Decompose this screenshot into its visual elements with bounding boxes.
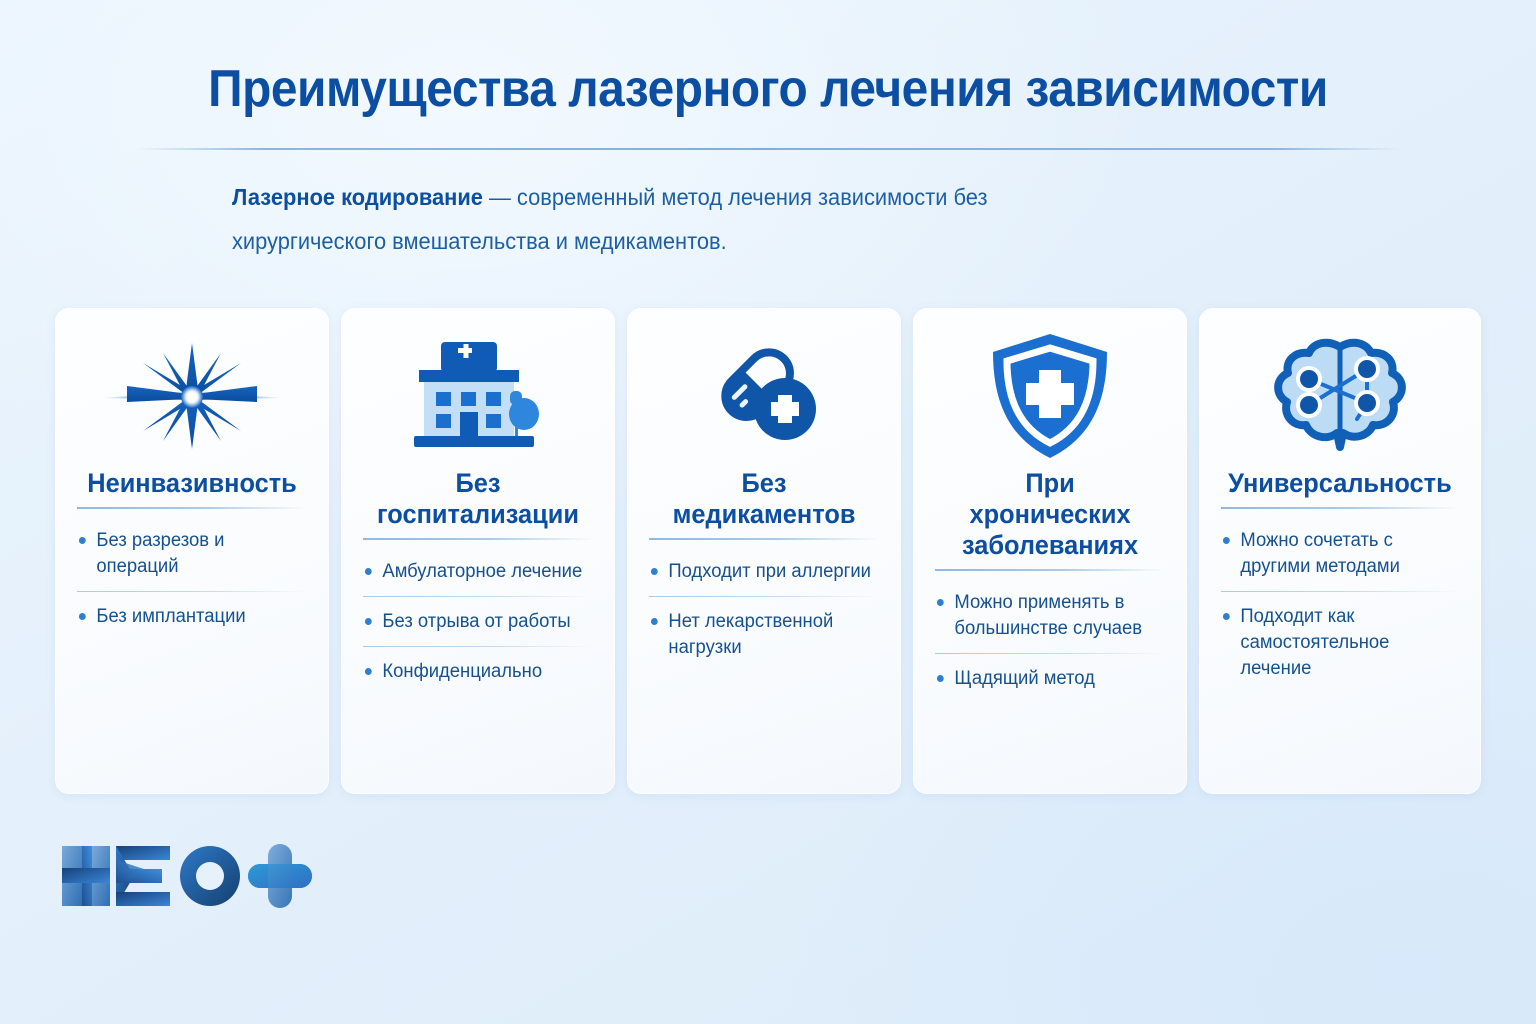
bullet-dot-icon — [651, 618, 658, 625]
infographic-poster: Преимущества лазерного лечения зависимос… — [0, 0, 1536, 1024]
benefit-card-hronicheskie-zabolevaniya[interactable]: При хронических заболеваниях Можно приме… — [913, 308, 1187, 794]
title-divider — [138, 148, 1400, 150]
hospital-building-icon — [363, 330, 593, 462]
title-separator — [363, 538, 593, 540]
bullet-dot-icon — [1223, 613, 1230, 620]
bullet-separator — [935, 653, 1165, 654]
bullet-text: Без имплантации — [96, 604, 245, 630]
bullet-text: Можно сочетать с другими методами — [1241, 528, 1452, 580]
list-item: Без отрыва от работы — [363, 606, 586, 638]
list-item: Нет лекарственной нагрузки — [649, 606, 872, 664]
list-item: Щадящий метод — [935, 663, 1158, 695]
pill-capsule-cross-icon — [649, 330, 879, 462]
bullet-list: Амбулаторное лечение Без отрыва от работ… — [363, 556, 593, 688]
list-item: Без разрезов и операций — [77, 525, 300, 583]
benefit-card-universalnost[interactable]: Универсальность Можно сочетать с другими… — [1199, 308, 1481, 794]
bullet-text: Можно применять в большинстве случаев — [955, 590, 1159, 642]
title-separator — [1221, 507, 1459, 509]
bullet-list: Без разрезов и операций Без имплантации — [77, 525, 307, 633]
bullet-dot-icon — [365, 668, 372, 675]
bullet-dot-icon — [79, 537, 86, 544]
card-title: Без госпитализации — [370, 468, 586, 530]
brand-logo — [58, 838, 328, 914]
brain-network-icon — [1221, 330, 1459, 462]
subtitle: Лазерное кодирование — современный метод… — [232, 175, 1144, 263]
card-title: При хронических заболеваниях — [942, 468, 1158, 561]
bullet-text: Подходит при аллергии — [668, 559, 871, 585]
bullet-dot-icon — [365, 568, 372, 575]
bullet-list: Можно сочетать с другими методами Подход… — [1221, 525, 1459, 685]
list-item: Подходит как самостоятельное лечение — [1221, 601, 1452, 685]
list-item: Амбулаторное лечение — [363, 556, 586, 588]
bullet-text: Амбулаторное лечение — [382, 559, 582, 585]
title-separator — [935, 569, 1165, 571]
subtitle-bold-lead: Лазерное кодирование — [232, 184, 483, 210]
bullet-text: Подходит как самостоятельное лечение — [1241, 604, 1452, 682]
list-item: Без имплантации — [77, 601, 300, 633]
list-item: Можно применять в большинстве случаев — [935, 587, 1158, 645]
benefit-card-bez-medikamentov[interactable]: Без медикаментов Подходит при аллергии Н… — [627, 308, 901, 794]
shield-cross-icon — [935, 330, 1165, 462]
bullet-dot-icon — [651, 568, 658, 575]
bullet-text: Конфиденциально — [382, 659, 542, 685]
title-separator — [649, 538, 879, 540]
list-item: Подходит при аллергии — [649, 556, 872, 588]
page-title: Преимущества лазерного лечения зависимос… — [61, 58, 1474, 120]
bullet-dot-icon — [365, 618, 372, 625]
bullet-text: Щадящий метод — [955, 666, 1095, 692]
bullet-separator — [649, 596, 879, 597]
title-separator — [77, 507, 307, 509]
list-item: Можно сочетать с другими методами — [1221, 525, 1452, 583]
list-item: Конфиденциально — [363, 656, 586, 688]
card-title: Неинвазивность — [84, 468, 300, 499]
benefit-cards-row: Неинвазивность Без разрезов и операций Б… — [55, 308, 1481, 794]
card-title: Без медикаментов — [656, 468, 872, 530]
bullet-separator — [77, 591, 307, 592]
bullet-separator — [363, 646, 593, 647]
bullet-text: Без разрезов и операций — [96, 528, 300, 580]
bullet-separator — [1221, 591, 1459, 592]
bullet-dot-icon — [1223, 537, 1230, 544]
bullet-dot-icon — [79, 613, 86, 620]
bullet-text: Без отрыва от работы — [382, 609, 570, 635]
card-title: Универсальность — [1228, 468, 1452, 499]
laser-burst-icon — [77, 330, 307, 462]
bullet-text: Нет лекарственной нагрузки — [668, 609, 872, 661]
bullet-list: Подходит при аллергии Нет лекарственной … — [649, 556, 879, 664]
bullet-dot-icon — [937, 675, 944, 682]
bullet-list: Можно применять в большинстве случаев Ща… — [935, 587, 1165, 695]
benefit-card-neinvazivnost[interactable]: Неинвазивность Без разрезов и операций Б… — [55, 308, 329, 794]
bullet-dot-icon — [937, 599, 944, 606]
benefit-card-bez-gospitalizacii[interactable]: Без госпитализации Амбулаторное лечение … — [341, 308, 615, 794]
bullet-separator — [363, 596, 593, 597]
